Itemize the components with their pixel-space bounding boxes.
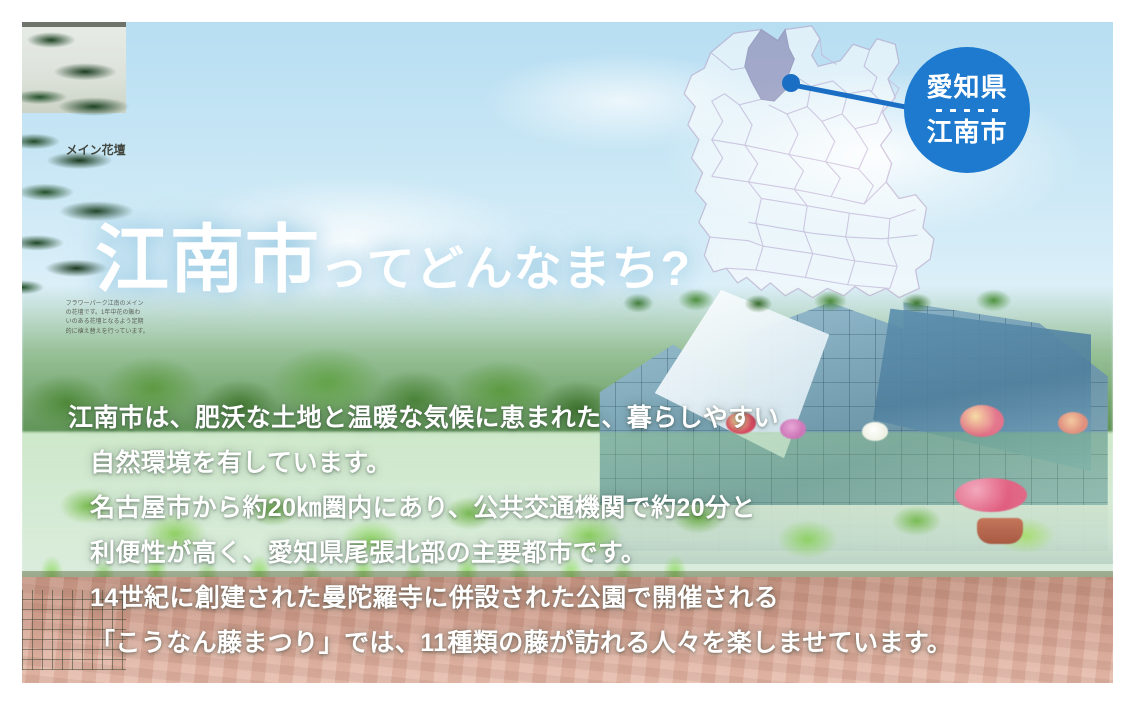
location-badge: 愛知県 江南市 bbox=[904, 47, 1030, 173]
page-title: 江南市ってどんなまち? bbox=[95, 200, 691, 307]
background-photo: メイン花壇 フラワーパーク江南のメイン の花壇です。1年中花の賑わ いのある花壇… bbox=[22, 22, 1113, 683]
badge-prefecture-label: 愛知県 bbox=[926, 73, 1007, 102]
description-line: 名古屋市から約20㎞圏内にあり、公共交通機関で約20分と bbox=[68, 486, 1028, 531]
description-line: 江南市は、肥沃な土地と温暖な気候に恵まれた、暮らしやすい bbox=[68, 396, 1028, 441]
description-line: 利便性が高く、愛知県尾張北部の主要都市です。 bbox=[68, 531, 1028, 576]
description-line: 14世紀に創建された曼陀羅寺に併設された公園で開催される bbox=[68, 576, 1028, 621]
badge-divider bbox=[936, 109, 998, 112]
description-text: 江南市は、肥沃な土地と温暖な気候に恵まれた、暮らしやすい 自然環境を有しています… bbox=[68, 396, 1028, 666]
map-location-dot bbox=[782, 74, 800, 92]
description-line: 「こうなん藤まつり」では、11種類の藤が訪れる人々を楽しませています。 bbox=[68, 621, 1028, 666]
badge-city-label: 江南市 bbox=[926, 118, 1007, 147]
konan-city-banner: メイン花壇 フラワーパーク江南のメイン の花壇です。1年中花の賑わ いのある花壇… bbox=[0, 0, 1138, 708]
page-title-rest: ってどんなまち? bbox=[320, 243, 691, 296]
page-title-emphasis: 江南市 bbox=[95, 218, 320, 301]
description-line: 自然環境を有しています。 bbox=[68, 441, 1028, 486]
